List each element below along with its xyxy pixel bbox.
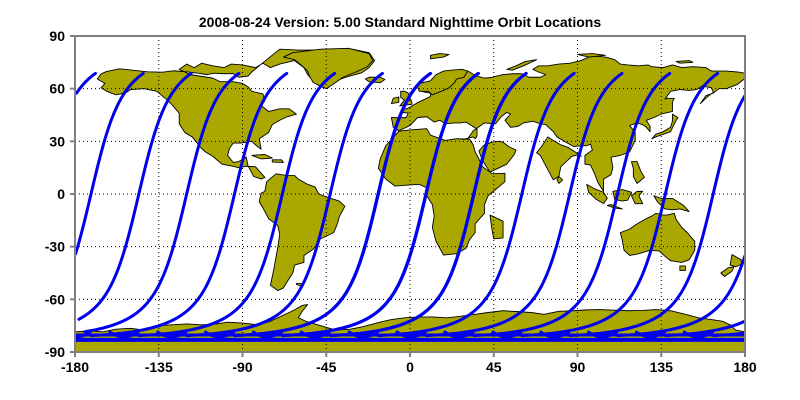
- y-tick-label: 0: [57, 186, 65, 202]
- orbit-map-figure: 2008-08-24 Version: 5.00 Standard Nightt…: [0, 0, 800, 400]
- land-polygon: [272, 160, 283, 163]
- y-tick-label: 60: [49, 81, 65, 97]
- y-tick-label: -60: [45, 291, 65, 307]
- x-tick-label: -90: [232, 359, 252, 375]
- y-tick-label: 90: [49, 28, 65, 44]
- x-tick-label: 135: [650, 359, 674, 375]
- x-tick-label: -45: [316, 359, 336, 375]
- x-tick-label: 45: [486, 359, 502, 375]
- page-title: 2008-08-24 Version: 5.00 Standard Nightt…: [199, 14, 601, 30]
- y-tick-label: -90: [45, 344, 65, 360]
- y-tick-label: -30: [45, 239, 65, 255]
- y-tick-label: 30: [49, 133, 65, 149]
- x-tick-label: -135: [145, 359, 173, 375]
- x-tick-label: 90: [570, 359, 586, 375]
- plot-area: [62, 36, 745, 352]
- x-tick-label: -180: [61, 359, 89, 375]
- land-polygon: [680, 266, 686, 270]
- x-tick-label: 180: [733, 359, 757, 375]
- x-tick-label: 0: [406, 359, 414, 375]
- land-polygon: [676, 61, 693, 64]
